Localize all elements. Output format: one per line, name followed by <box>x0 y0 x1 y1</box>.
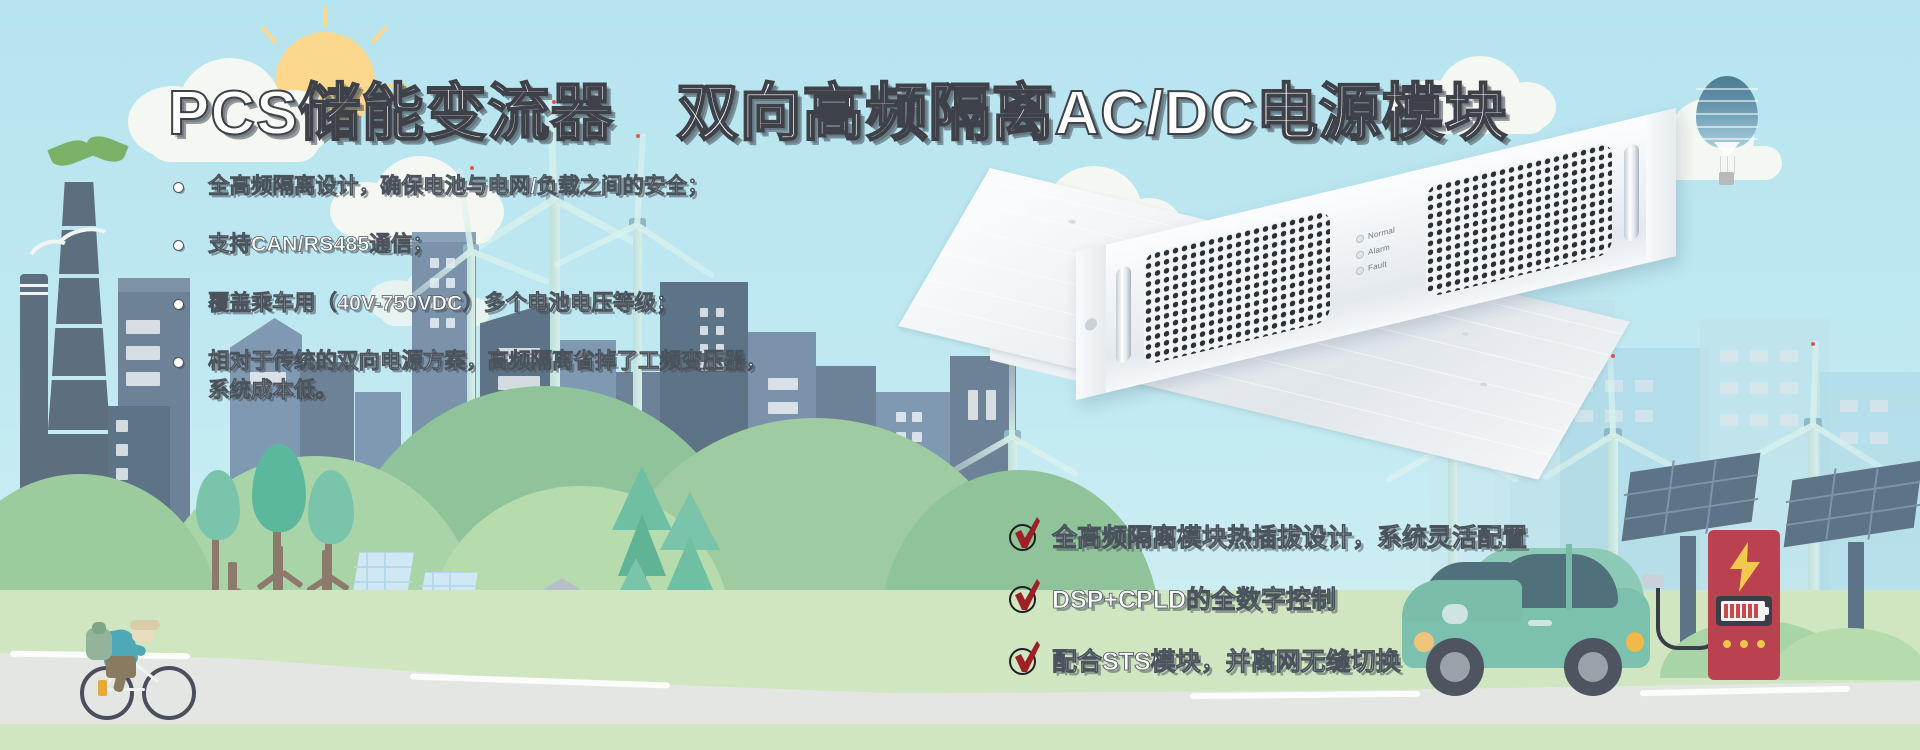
2u-rack-power-module: Normal Alarm Fault <box>990 168 1690 423</box>
bullet-dot-icon <box>174 358 183 367</box>
road-shoulder <box>0 724 1920 750</box>
led-dot <box>1356 233 1364 243</box>
check-mark-icon <box>1008 583 1038 613</box>
bullet-text: 相对于传统的双向电源方案，高频隔离省掉了工频变压器， 系统成本低。 <box>208 347 767 404</box>
led-label: Alarm <box>1368 243 1390 257</box>
check-mark-icon <box>1008 645 1038 675</box>
device-handle-right[interactable] <box>1624 143 1639 243</box>
ventilation-grille-left <box>1144 209 1330 366</box>
list-item: 全高频隔离设计，确保电池与电网/负载之间的安全； <box>170 172 830 200</box>
list-item: DSP+CPLD的全数字控制 <box>1008 580 1527 616</box>
bullet-dot-icon <box>174 241 183 250</box>
page-title: PCS储能变流器 双向高频隔离AC/DC电源模块 <box>168 62 1508 152</box>
list-item: 覆盖乘车用（40V-750VDC）多个电池电压等级； <box>170 289 830 317</box>
led-dot <box>1356 249 1364 259</box>
ev-charging-pile-icon <box>1708 530 1838 710</box>
led-label: Normal <box>1368 225 1395 240</box>
list-item: 相对于传统的双向电源方案，高频隔离省掉了工频变压器， 系统成本低。 <box>170 347 830 404</box>
cyclist-icon <box>80 594 200 724</box>
bullet-dot-icon <box>174 300 183 309</box>
bullet-text: 全高频隔离设计，确保电池与电网/负载之间的安全； <box>208 174 708 198</box>
lightning-bolt-icon <box>1728 542 1762 592</box>
promo-banner: Normal Alarm Fault PCS储能变流器 双向高频隔离AC/DC电… <box>0 0 1920 750</box>
check-mark-icon <box>1008 521 1038 551</box>
led-dot <box>1356 265 1364 275</box>
list-item: 全高频隔离模块热插拔设计，系统灵活配置 <box>1008 518 1527 554</box>
device-handle-left[interactable] <box>1116 265 1131 365</box>
led-label: Fault <box>1368 259 1387 273</box>
led-indicator-fault: Fault <box>1356 259 1387 275</box>
bullet-text: 支持CAN/RS485通信； <box>208 232 434 256</box>
list-item: 配合STS模块，并离网无缝切换 <box>1008 642 1527 678</box>
bullet-text: 覆盖乘车用（40V-750VDC）多个电池电压等级； <box>208 291 678 315</box>
feature-bullet-list: 全高频隔离设计，确保电池与电网/负载之间的安全； 支持CAN/RS485通信； … <box>170 172 830 434</box>
ventilation-grille-right <box>1426 141 1612 298</box>
bullet-dot-icon <box>174 183 183 192</box>
check-text: DSP+CPLD的全数字控制 <box>1052 580 1336 616</box>
device-rack-ear-right <box>1646 108 1676 263</box>
check-text: 全高频隔离模块热插拔设计，系统灵活配置 <box>1052 518 1527 554</box>
check-text: 配合STS模块，并离网无缝切换 <box>1052 642 1401 678</box>
highlight-check-list: 全高频隔离模块热插拔设计，系统灵活配置 DSP+CPLD的全数字控制 配合STS… <box>1008 518 1527 704</box>
led-indicator-normal: Normal <box>1356 225 1395 243</box>
led-indicator-alarm: Alarm <box>1356 243 1390 260</box>
list-item: 支持CAN/RS485通信； <box>170 230 830 258</box>
